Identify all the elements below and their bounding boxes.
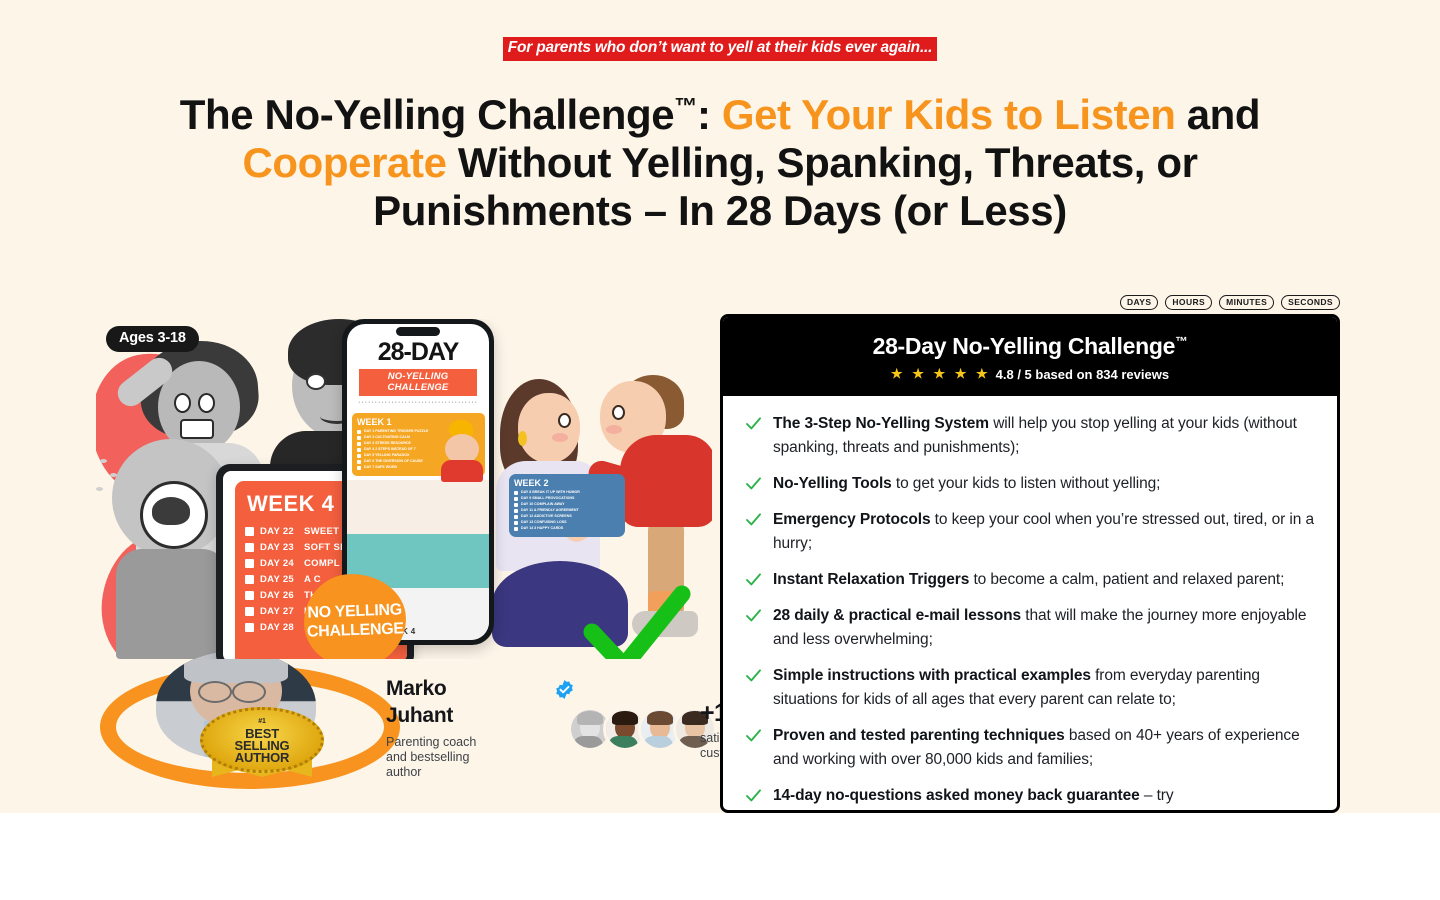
benefit-text: 14-day no-questions asked money back gua… [773,784,1174,808]
checklist-row: DAY 12 ADDICTIVE SCREENS [514,515,620,519]
week-2-title: WEEK 2 [514,478,620,488]
checklist-row: DAY 13 CONFUSING LOSS [514,521,620,525]
checkbox-icon [357,466,361,470]
page-title: The No-Yelling Challenge™: Get Your Kids… [125,91,1315,235]
checkbox-icon [245,559,254,568]
checkbox-icon [514,491,518,495]
benefit-text: No-Yelling Tools to get your kids to lis… [773,472,1160,496]
cheek-blush-shape [552,433,568,442]
rating-text: 4.8 / 5 based on 834 reviews [996,367,1169,382]
benefit-text: Proven and tested parenting techniques b… [773,724,1315,772]
eyeglasses-icon [232,681,266,703]
day-text: A C [304,574,321,585]
check-icon [745,415,762,432]
headline-highlight-2: Cooperate [242,139,446,186]
checkbox-icon [514,527,518,531]
author-photo-with-seal: #1 BEST SELLING AUTHOR [100,659,370,775]
benefit-item: Instant Relaxation Triggers to become a … [745,568,1315,592]
day-label: DAY 25 [260,574,298,585]
day-text: DAY 11 A FRIENDLY AGREEMENT [521,509,579,513]
benefit-bold: The 3-Step No-Yelling System [773,415,989,432]
benefit-item: 14-day no-questions asked money back gua… [745,784,1315,808]
phone-illustration-band [347,480,489,534]
cheek-blush-shape [606,425,622,434]
author-last-name: Juhant [386,704,453,727]
benefit-bold: Simple instructions with practical examp… [773,667,1091,684]
offer-benefits-list: The 3-Step No-Yelling System will help y… [723,396,1337,808]
customer-avatar-group [568,707,717,751]
headline-part-2: Without Yelling, Spanking, Threats, or P… [373,139,1197,234]
headline-part-1: The No-Yelling Challenge [180,91,674,138]
star-rating-icon: ★ ★ ★ ★ ★ [891,366,991,382]
angry-child-illustration [439,420,487,480]
tear-drop-icon [100,459,107,463]
day-text: DAY 1 PARENTING TRIGGER PUZZLE [364,430,428,434]
trademark-symbol: ™ [674,93,697,119]
avatar-hair [577,711,603,725]
benefit-text: Emergency Protocols to keep your cool wh… [773,508,1315,556]
check-icon [745,727,762,744]
ages-badge: Ages 3-18 [106,326,199,352]
phone-program-title: 28-DAY [347,338,489,367]
body-shape [116,549,228,659]
checkbox-icon [357,460,361,464]
check-icon [745,475,762,492]
day-text: DAY 5 YELLING PARADOX [364,454,409,458]
checkbox-icon [357,454,361,458]
countdown-unit-hours: HOURS [1165,295,1212,310]
benefit-text: The 3-Step No-Yelling System will help y… [773,412,1315,460]
eyebrow-row: For parents who don’t want to yell at th… [0,0,1440,61]
day-text: COMPL [304,558,340,569]
day-label: DAY 24 [260,558,298,569]
face-shape [518,393,580,463]
day-text: DAY 6 THE DIVERSION OF CAUSE [364,460,423,464]
check-icon [745,787,762,804]
tear-drop-icon [96,487,103,491]
check-icon [745,511,762,528]
checklist-row: DAY 11 A FRIENDLY AGREEMENT [514,509,620,513]
eyeglasses-icon [198,681,232,703]
eye-shape [612,405,625,420]
benefit-bold: Instant Relaxation Triggers [773,571,969,588]
offer-title: 28-Day No-Yelling Challenge™ [733,333,1327,360]
checkbox-icon [245,591,254,600]
hero-illustration: WEEK 4 DAY 22SWEET STA DAY 23SOFT SPEAC … [96,319,712,659]
checkbox-icon [245,575,254,584]
checkbox-icon [357,442,361,446]
benefit-bold: 14-day no-questions asked money back gua… [773,787,1140,804]
day-text: DAY 14 3 HAPPY CARDS [521,527,563,531]
checkbox-icon [514,497,518,501]
seal-line-3: AUTHOR [235,750,289,765]
headline-highlight-1: Get Your Kids to Listen [722,91,1176,138]
countdown-unit-seconds: SECONDS [1281,295,1340,310]
checkbox-icon [514,509,518,513]
checklist-row: DAY 9 SMALL PROVOCATIONS [514,497,620,501]
benefit-bold: No-Yelling Tools [773,475,892,492]
day-text: DAY 4 2 STEPS INSTEAD OF 7 [364,448,416,452]
avatar-hair [612,711,638,725]
author-social-proof-row: #1 BEST SELLING AUTHOR Marko Juhant Pare… [96,665,712,785]
day-text: DAY 9 SMALL PROVOCATIONS [521,497,574,501]
countdown-timer: DAYS HOURS MINUTES SECONDS [1120,295,1340,310]
benefit-item: Proven and tested parenting techniques b… [745,724,1315,772]
checkbox-icon [514,503,518,507]
checklist-row: DAY 10 COMPLAIN AWAY [514,503,620,507]
check-icon [745,667,762,684]
day-label: DAY 22 [260,526,298,537]
seal-text: #1 BEST SELLING AUTHOR [235,716,290,764]
checkbox-icon [245,543,254,552]
eye-shape [306,373,326,390]
avatar-shoulders [608,736,638,748]
benefit-text: Instant Relaxation Triggers to become a … [773,568,1284,592]
checkbox-icon [245,607,254,616]
hero-stage: WEEK 4 DAY 22SWEET STA DAY 23SOFT SPEAC … [96,319,712,659]
day-label: DAY 28 [260,622,298,633]
phone-program-subtitle: NO-YELLING CHALLENGE [359,369,477,396]
day-label: DAY 27 [260,606,298,617]
author-first-name: Marko [386,677,446,700]
phone-notch [396,327,440,336]
trademark-symbol: ™ [1175,334,1187,348]
countdown-unit-minutes: MINUTES [1219,295,1274,310]
benefit-bold: Emergency Protocols [773,511,930,528]
benefit-rest: to get your kids to listen without yelli… [892,475,1161,492]
benefit-item: Emergency Protocols to keep your cool wh… [745,508,1315,556]
day-text: DAY 12 ADDICTIVE SCREENS [521,515,572,519]
body-shape [441,460,483,482]
benefit-text: Simple instructions with practical examp… [773,664,1315,712]
best-selling-author-seal: #1 BEST SELLING AUTHOR [200,707,324,773]
checklist-row: DAY 14 3 HAPPY CARDS [514,527,620,531]
day-label: DAY 26 [260,590,298,601]
tear-drop-icon [110,473,117,477]
benefit-bold: 28 daily & practical e-mail lessons [773,607,1021,624]
benefit-bold: Proven and tested parenting techniques [773,727,1065,744]
tongue-shape [152,497,190,525]
offer-rating: ★ ★ ★ ★ ★ 4.8 / 5 based on 834 reviews [733,366,1327,382]
benefit-item: 28 daily & practical e-mail lessons that… [745,604,1315,652]
checklist-row: DAY 8 BREAK IT UP WITH HUMOR [514,491,620,495]
day-text: DAY 7 SAFE WORD [364,466,397,470]
headline-mid: and [1175,91,1260,138]
eye-shape [174,393,191,413]
checkbox-icon [357,430,361,434]
phone-week-2-card: WEEK 2 DAY 8 BREAK IT UP WITH HUMOR DAY … [509,474,625,537]
earring-shape [518,431,527,446]
checkbox-icon [357,448,361,452]
checkbox-icon [357,436,361,440]
day-text: DAY 2 CULTIVATING CALM [364,436,410,440]
day-text: DAY 13 CONFUSING LOSS [521,521,567,525]
offer-card-header: 28-Day No-Yelling Challenge™ ★ ★ ★ ★ ★ 4… [723,317,1337,396]
day-text: DAY 8 BREAK IT UP WITH HUMOR [521,491,580,495]
offer-title-text: 28-Day No-Yelling Challenge [873,333,1175,359]
countdown-unit-days: DAYS [1120,295,1158,310]
benefit-rest: to become a calm, patient and relaxed pa… [969,571,1284,588]
author-name: Marko Juhant [386,675,453,729]
check-icon [745,607,762,624]
checkbox-icon [245,527,254,536]
eye-shape [558,413,571,428]
dotted-divider: ···································· [347,399,489,408]
benefit-item: Simple instructions with practical examp… [745,664,1315,712]
eye-shape [198,393,215,413]
avatar-hair [647,711,673,725]
benefit-text: 28 daily & practical e-mail lessons that… [773,604,1315,652]
sticker-label: NO YELLING CHALLENGE [303,600,406,642]
landing-page: For parents who don’t want to yell at th… [0,0,1440,813]
verified-badge-icon [554,679,575,700]
check-icon [745,571,762,588]
avatar-shoulders [643,736,673,748]
benefit-item: The 3-Step No-Yelling System will help y… [745,412,1315,460]
day-text: DAY 10 COMPLAIN AWAY [521,503,564,507]
mouth-shape [180,419,214,439]
checkbox-icon [514,521,518,525]
checkbox-icon [245,623,254,632]
benefit-item: No-Yelling Tools to get your kids to lis… [745,472,1315,496]
offer-card: 28-Day No-Yelling Challenge™ ★ ★ ★ ★ ★ 4… [720,314,1340,813]
benefit-rest: – try [1140,787,1174,804]
day-text: DAY 3 STRESS RESOURCE [364,442,411,446]
avatar-shoulders [573,736,603,748]
eyebrow-banner: For parents who don’t want to yell at th… [503,37,938,61]
headline-colon: : [697,91,722,138]
green-checkmark-icon [582,574,692,659]
checkbox-icon [514,515,518,519]
day-label: DAY 23 [260,542,298,553]
author-role: Parenting coach and bestselling author [386,735,496,780]
